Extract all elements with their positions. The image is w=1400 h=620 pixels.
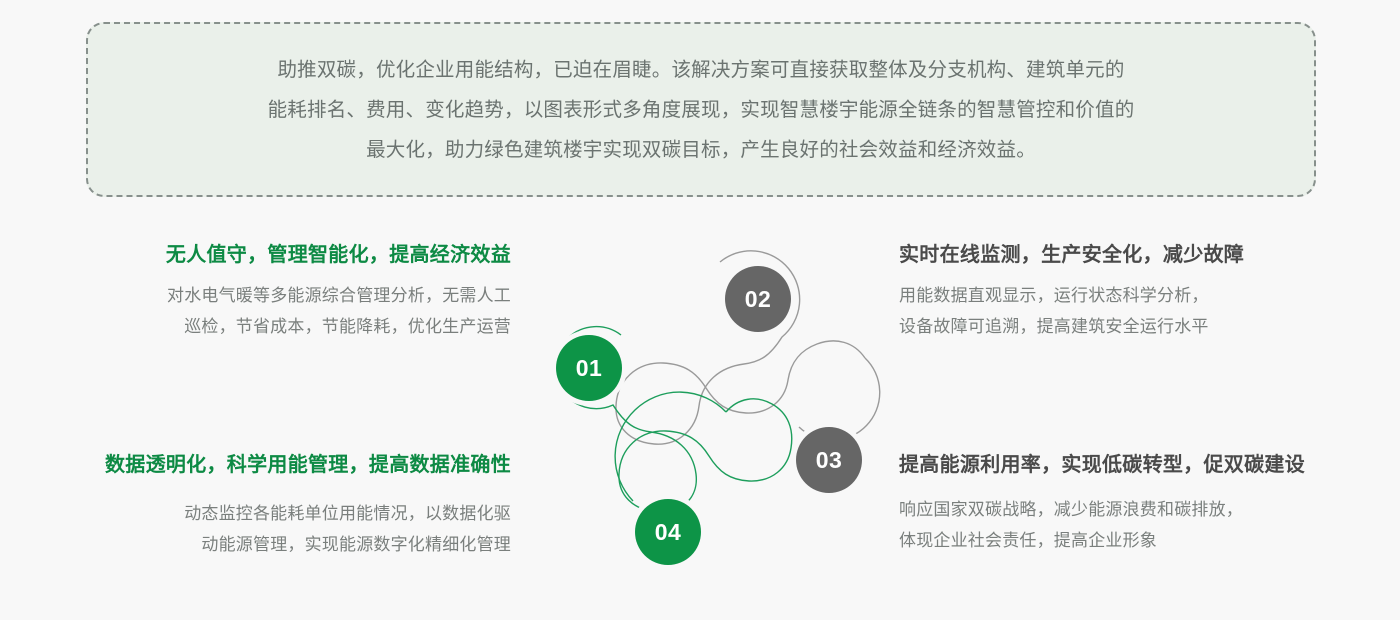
node-label-03: 03: [816, 447, 843, 473]
diagram-node-01[interactable]: 01: [556, 335, 622, 401]
intro-line: 能耗排名、费用、变化趋势，以图表形式多角度展现，实现智慧楼宇能源全链条的智慧管控…: [126, 90, 1276, 130]
feature-body-line: 动能源管理，实现能源数字化精细化管理: [79, 529, 511, 560]
feature-block-03: 数据透明化，科学用能管理，提高数据准确性 动态监控各能耗单位用能情况，以数据化驱…: [79, 450, 511, 560]
intro-line: 助推双碳，优化企业用能结构，已迫在眉睫。该解决方案可直接获取整体及分支机构、建筑…: [126, 50, 1276, 90]
feature-body-line: 动态监控各能耗单位用能情况，以数据化驱: [79, 498, 511, 529]
feature-block-01: 无人值守，管理智能化，提高经济效益 对水电气暖等多能源综合管理分析，无需人工 巡…: [79, 240, 511, 342]
feature-block-02: 实时在线监测，生产安全化，减少故障 用能数据直观显示，运行状态科学分析， 设备故…: [899, 240, 1331, 342]
feature-body-03: 动态监控各能耗单位用能情况，以数据化驱 动能源管理，实现能源数字化精细化管理: [79, 498, 511, 560]
feature-body-line: 用能数据直观显示，运行状态科学分析，: [899, 280, 1331, 311]
intro-line: 最大化，助力绿色建筑楼宇实现双碳目标，产生良好的社会效益和经济效益。: [126, 130, 1276, 170]
node-label-04: 04: [655, 519, 682, 545]
feature-body-line: 对水电气暖等多能源综合管理分析，无需人工: [79, 280, 511, 311]
feature-body-line: 体现企业社会责任，提高企业形象: [899, 525, 1331, 556]
feature-body-line: 响应国家双碳战略，减少能源浪费和碳排放，: [899, 494, 1331, 525]
green-path-tail: [615, 392, 726, 501]
feature-body-01: 对水电气暖等多能源综合管理分析，无需人工 巡检，节省成本，节能降耗，优化生产运营: [79, 280, 511, 342]
node-label-01: 01: [576, 355, 603, 381]
diagram-node-02[interactable]: 02: [725, 266, 791, 332]
connected-nodes-diagram: 01 02 03 04: [520, 230, 890, 600]
diagram-node-03[interactable]: 03: [796, 427, 862, 493]
feature-body-02: 用能数据直观显示，运行状态科学分析， 设备故障可追溯，提高建筑安全运行水平: [899, 280, 1331, 342]
intro-paragraph: 助推双碳，优化企业用能结构，已迫在眉睫。该解决方案可直接获取整体及分支机构、建筑…: [126, 50, 1276, 170]
intro-panel: 助推双碳，优化企业用能结构，已迫在眉睫。该解决方案可直接获取整体及分支机构、建筑…: [86, 22, 1316, 197]
feature-body-line: 设备故障可追溯，提高建筑安全运行水平: [899, 311, 1331, 342]
feature-body-04: 响应国家双碳战略，减少能源浪费和碳排放， 体现企业社会责任，提高企业形象: [899, 494, 1331, 556]
feature-title-03: 数据透明化，科学用能管理，提高数据准确性: [79, 450, 511, 480]
node-label-02: 02: [745, 286, 772, 312]
feature-title-02: 实时在线监测，生产安全化，减少故障: [899, 240, 1331, 270]
feature-block-04: 提高能源利用率，实现低碳转型，促双碳建设 响应国家双碳战略，减少能源浪费和碳排放…: [899, 450, 1331, 556]
feature-title-01: 无人值守，管理智能化，提高经济效益: [79, 240, 511, 270]
feature-body-line: 巡检，节省成本，节能降耗，优化生产运营: [79, 311, 511, 342]
feature-title-04: 提高能源利用率，实现低碳转型，促双碳建设: [899, 450, 1331, 480]
diagram-node-04[interactable]: 04: [635, 499, 701, 565]
